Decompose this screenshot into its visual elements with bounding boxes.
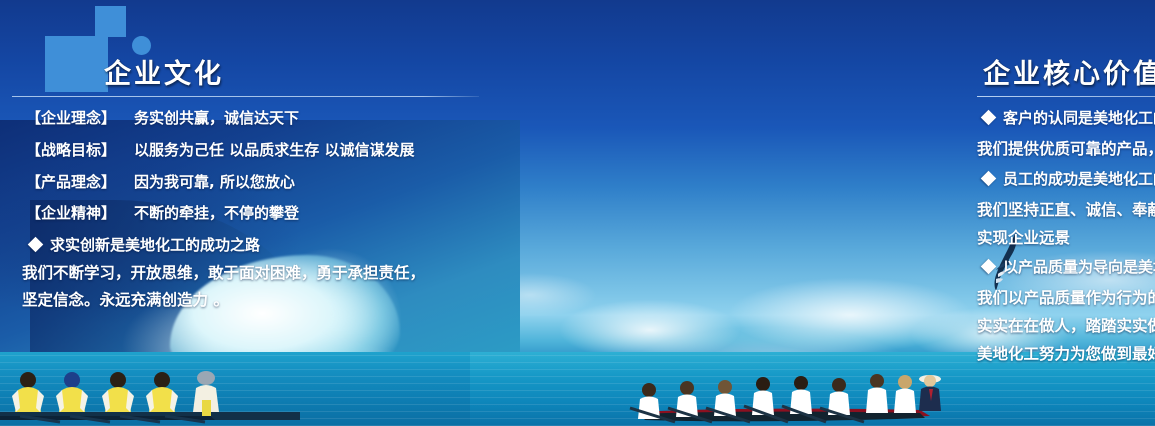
pair-key: 【产品理念】	[26, 171, 134, 192]
value-body-line: 美地化工努力为您做到最好！这是我们的企业文化。	[977, 342, 1155, 364]
left-paragraph-line: 坚定信念。永远充满创造力 。	[22, 288, 229, 310]
left-column-heading: 企业文化	[104, 52, 224, 91]
left-paragraph-line: 我们不断学习，开放思维，敢于面对困难，勇于承担责任，	[22, 261, 425, 283]
culture-pair-row: 【企业理念】务实创共赢，诚信达天下	[26, 107, 299, 128]
pair-key: 【企业理念】	[26, 107, 134, 128]
pair-value: 务实创共赢，诚信达天下	[134, 107, 299, 128]
left-column-divider	[12, 96, 479, 97]
pair-value: 不断的牵挂，不停的攀登	[134, 202, 299, 223]
culture-pair-row: 【产品理念】因为我可靠, 所以您放心	[26, 171, 295, 192]
value-bullet-text: 员工的成功是美地化工的成功之源	[1003, 170, 1155, 188]
value-bullet-text: 客户的认同是美地化工的成功之本	[1003, 109, 1155, 127]
right-column-divider	[977, 96, 1155, 97]
pair-value: 以服务为己任 以品质求生存 以诚信谋发展	[134, 139, 414, 160]
decor-square-large-icon	[45, 36, 108, 92]
value-body-line: 我们以产品质量作为行为的指南，衡量贡献大小和成功与否的标准，树立严谨、务实的作风…	[977, 286, 1155, 308]
value-body-line: 我们提供优质可靠的产品，及时高效的服务，为客户创造价值，为企业创造利润。	[977, 137, 1155, 159]
left-bullet-text: 求实创新是美地化工的成功之路	[50, 236, 260, 254]
value-body-line: 实实在在做人，踏踏实实做事 。让我们携手共进，共同追求发展，享受卓越成功。	[977, 314, 1155, 336]
corporate-culture-banner: 企业文化 【企业理念】务实创共赢，诚信达天下 【战略目标】以服务为己任 以品质求…	[0, 0, 1155, 426]
value-body-line: 我们坚持正直、诚信、奉献的精神，营造团结、和谐、进取的氛围，彰显员工自身价值，	[977, 198, 1155, 220]
value-bullet-heading: 客户的认同是美地化工的成功之本	[983, 107, 1155, 128]
pair-key: 【企业精神】	[26, 202, 134, 223]
value-bullet-heading: 以产品质量为导向是美地化工的成功保证	[983, 256, 1155, 277]
decor-square-small-icon	[95, 6, 126, 37]
right-column-heading: 企业核心价值观	[983, 52, 1155, 91]
diamond-bullet-icon	[28, 237, 44, 253]
diamond-bullet-icon	[981, 110, 997, 126]
value-bullet-heading: 员工的成功是美地化工的成功之源	[983, 168, 1155, 189]
pair-value: 因为我可靠, 所以您放心	[134, 171, 295, 192]
diamond-bullet-icon	[981, 171, 997, 187]
value-bullet-text: 以产品质量为导向是美地化工的成功保证	[1003, 258, 1155, 276]
culture-pair-row: 【战略目标】以服务为己任 以品质求生存 以诚信谋发展	[26, 139, 414, 160]
culture-pair-row: 【企业精神】不断的牵挂，不停的攀登	[26, 202, 299, 223]
pair-key: 【战略目标】	[26, 139, 134, 160]
diamond-bullet-icon	[981, 259, 997, 275]
left-bullet-heading: 求实创新是美地化工的成功之路	[30, 234, 260, 255]
value-body-line: 实现企业远景	[977, 226, 1070, 248]
